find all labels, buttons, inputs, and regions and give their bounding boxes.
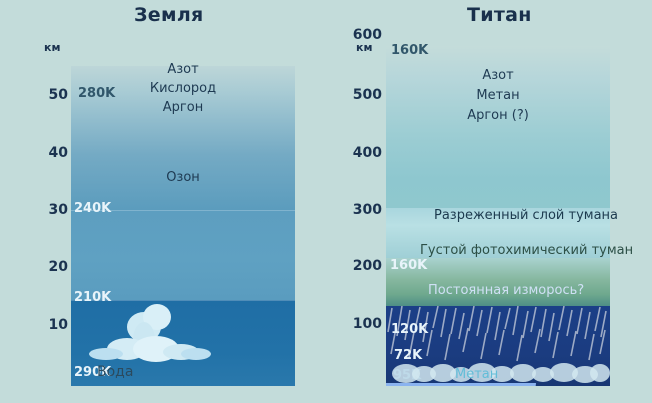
earth-panel-title: Земля (134, 4, 204, 26)
titan-panel-title: Титан (467, 4, 532, 26)
earth-axis-unit: км (44, 41, 60, 54)
titan-ground-baseline (386, 386, 610, 403)
titan-temp-120k: 120K (391, 322, 428, 337)
earth-layer-ozone (71, 210, 295, 300)
titan-thin-haze-label: Разреженный слой тумана (434, 208, 618, 223)
titan-axis-tick-300: 300 (344, 202, 382, 218)
titan-axis-unit: км (356, 41, 372, 54)
earth-temp-240k: 240K (74, 201, 111, 216)
titan-axis-tick-500: 500 (344, 87, 382, 103)
titan-gas-nitrogen: Азот (386, 66, 610, 86)
earth-gas-argon: Аргон (71, 98, 295, 117)
titan-temp-72k: 72K (394, 348, 422, 363)
earth-gas-composition: Азот Кислород Аргон (71, 60, 295, 117)
titan-temp-160k-mid: 160K (390, 258, 427, 273)
earth-axis-tick-10: 10 (42, 317, 68, 333)
titan-gas-composition: Азот Метан Аргон (?) (386, 66, 610, 126)
earth-axis-tick-50: 50 (42, 87, 68, 103)
earth-axis-tick-40: 40 (42, 145, 68, 161)
earth-gas-nitrogen: Азот (71, 60, 295, 79)
titan-axis-tick-400: 400 (344, 145, 382, 161)
titan-thick-haze-label: Густой фотохимический туман (420, 243, 633, 258)
earth-gas-oxygen: Кислород (71, 79, 295, 98)
earth-axis-tick-20: 20 (42, 259, 68, 275)
earth-water-label: Вода (97, 364, 133, 380)
earth-ground-baseline (71, 386, 295, 403)
titan-temp-160k-top: 160K (391, 43, 428, 58)
titan-methane-label: Метан (455, 367, 498, 382)
earth-axis-tick-30: 30 (42, 202, 68, 218)
titan-gas-methane: Метан (386, 86, 610, 106)
titan-drizzle-label: Постоянная изморось? (428, 283, 584, 298)
earth-temp-210k: 210K (74, 290, 111, 305)
atmosphere-comparison-figure: Земля км 50 40 30 20 10 280K (0, 0, 652, 403)
titan-axis-tick-100: 100 (344, 316, 382, 332)
titan-gas-argon: Аргон (?) (386, 106, 610, 126)
earth-ozone-label: Озон (71, 168, 295, 187)
titan-axis-tick-200: 200 (344, 258, 382, 274)
